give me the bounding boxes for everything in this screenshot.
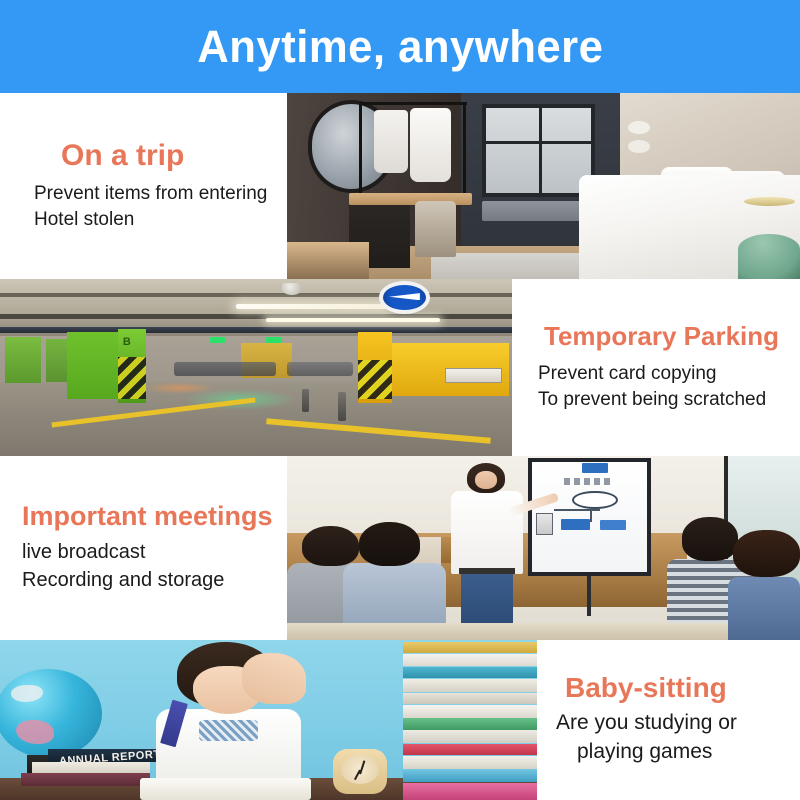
baby-sitting-line-2: playing games <box>556 738 800 767</box>
hotel-rail-post-right <box>463 102 466 199</box>
garage-hazard-stripe-1 <box>118 357 146 399</box>
section-baby-sitting: ANNUAL REPORT <box>0 640 800 800</box>
stack-book-3 <box>403 667 537 678</box>
attendee-2-head <box>359 522 421 566</box>
baby-sitting-text-panel: Baby-sitting Are you studying or playing… <box>537 640 800 800</box>
hotel-wall-sconce-2 <box>628 140 650 153</box>
stack-book-6 <box>403 705 537 718</box>
important-meetings-line-1: live broadcast <box>22 539 287 567</box>
presenter-belt <box>459 568 515 574</box>
infographic-page: Anytime, anywhere On a trip Prevent item… <box>0 0 800 800</box>
presenter-jeans <box>461 570 512 629</box>
whiteboard-stand <box>587 576 591 616</box>
child-studying-photo: ANNUAL REPORT <box>0 640 537 800</box>
hotel-window <box>482 104 595 197</box>
hotel-room-photo <box>287 93 800 279</box>
whiteboard-title-scribble <box>564 478 610 485</box>
page-title: Anytime, anywhere <box>197 24 603 69</box>
baby-sitting-heading: Baby-sitting <box>565 673 800 704</box>
garage-wall-panel <box>445 368 501 384</box>
garage-green-pillar-label: B <box>123 336 135 347</box>
child-arm-on-head <box>242 653 306 704</box>
garage-orange-light-trail <box>143 382 215 394</box>
garage-bollard-2 <box>338 392 346 420</box>
garage-hazard-stripe-2 <box>358 360 391 399</box>
whiteboard-monitor-icon <box>561 519 589 530</box>
whiteboard-laptop-icon <box>582 463 608 472</box>
presenter-face <box>475 471 498 489</box>
important-meetings-heading: Important meetings <box>22 502 287 532</box>
on-a-trip-line-2: Hotel stolen <box>34 207 287 233</box>
hotel-window-mullion <box>539 104 542 197</box>
hotel-desk-chair <box>415 201 456 257</box>
on-a-trip-line-1: Prevent items from entering <box>34 181 287 207</box>
stack-book-4 <box>403 679 537 692</box>
hotel-side-table <box>738 234 800 279</box>
garage-green-wall <box>67 332 118 399</box>
section-temporary-parking: B Temporary Parking Prevent card copying… <box>0 279 800 456</box>
child-ribbon-tie <box>199 720 258 741</box>
attendee-1-head <box>302 526 358 566</box>
hotel-radiator <box>482 201 595 221</box>
stack-book-11 <box>403 770 537 783</box>
header-banner: Anytime, anywhere <box>0 0 800 93</box>
left-book-3 <box>21 773 150 786</box>
hotel-clothes-rail <box>359 102 467 105</box>
stack-book-8 <box>403 730 537 743</box>
temporary-parking-line-2: To prevent being scratched <box>538 387 800 413</box>
stack-book-1 <box>403 642 537 653</box>
stack-book-12 <box>403 783 537 800</box>
baby-sitting-line-1: Are you studying or <box>556 709 800 738</box>
garage-beam-1 <box>0 293 512 297</box>
attendee-3-head <box>682 517 738 561</box>
whiteboard-server-icon <box>536 513 553 535</box>
stack-book-9 <box>403 744 537 755</box>
book-stack <box>403 640 537 800</box>
stack-book-7 <box>403 718 537 729</box>
left-book-2 <box>32 762 150 773</box>
globe <box>0 669 102 759</box>
whiteboard-laptop-icon-2 <box>600 520 626 529</box>
hotel-wall-sconce-1 <box>628 121 650 134</box>
meeting-table <box>287 623 728 640</box>
hotel-rug <box>431 253 585 279</box>
stack-book-5 <box>403 693 537 704</box>
section-on-a-trip: On a trip Prevent items from entering Ho… <box>0 93 800 279</box>
temporary-parking-line-1: Prevent card copying <box>538 361 800 387</box>
hotel-bathrobe-2 <box>410 108 451 182</box>
open-notebook <box>140 778 312 800</box>
presenter-shirt <box>451 491 523 574</box>
temporary-parking-text-panel: Temporary Parking Prevent card copying T… <box>512 279 800 456</box>
hotel-rail-post-left <box>359 102 362 199</box>
hotel-bathrobe-1 <box>374 110 407 173</box>
security-camera-dome <box>282 283 302 295</box>
meeting-room-photo <box>287 456 800 640</box>
on-a-trip-heading: On a trip <box>61 139 287 172</box>
important-meetings-line-2: Recording and storage <box>22 567 287 595</box>
attendee-4-body <box>728 577 800 640</box>
garage-exit-sign-2 <box>266 337 281 342</box>
hotel-window-transom <box>482 141 595 144</box>
important-meetings-text-panel: Important meetings live broadcast Record… <box>0 456 287 640</box>
section-important-meetings: Important meetings live broadcast Record… <box>0 456 800 640</box>
garage-parked-cars-1 <box>174 362 276 376</box>
on-a-trip-text-panel: On a trip Prevent items from entering Ho… <box>0 93 287 279</box>
garage-bollard-1 <box>302 389 309 412</box>
garage-ceiling-light-2 <box>266 318 440 322</box>
garage-parked-cars-2 <box>287 362 354 376</box>
attendee-4-head <box>733 530 800 578</box>
garage-green-pillar-far-2 <box>46 339 66 381</box>
garage-green-pillar-far-1 <box>5 337 41 383</box>
garage-ceiling-light-1 <box>236 304 390 309</box>
parking-garage-photo: B <box>0 279 512 456</box>
hotel-luggage-bench <box>287 242 369 279</box>
whiteboard-connector-2 <box>590 509 592 522</box>
stack-book-10 <box>403 756 537 769</box>
garage-exit-sign-1 <box>210 337 225 342</box>
stack-book-2 <box>403 654 537 667</box>
temporary-parking-heading: Temporary Parking <box>544 322 800 351</box>
whiteboard-connector-1 <box>554 509 600 511</box>
